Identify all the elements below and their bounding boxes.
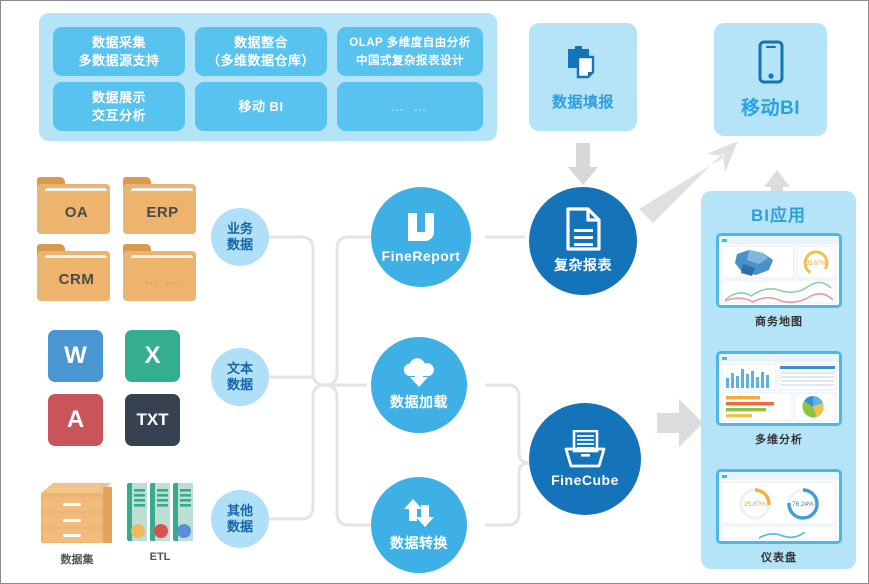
gauge-dashboard-thumb: 25.87% 76.24% bbox=[719, 480, 839, 541]
feature-card-data-integration[interactable]: 数据整合 （多维数据仓库） bbox=[195, 27, 327, 76]
bar-pie-dashboard-thumb bbox=[719, 362, 839, 423]
arrow-data-entry-to-report bbox=[568, 143, 598, 185]
bi-caption: 多维分析 bbox=[716, 431, 842, 447]
feature-panel: 数据采集 多数据源支持 数据整合 （多维数据仓库） OLAP 多维度自由分析 中… bbox=[39, 13, 497, 141]
data-entry-tile[interactable]: 数据填报 bbox=[529, 23, 637, 131]
category-text-data[interactable]: 文本 数据 bbox=[211, 348, 269, 406]
thumb-titlebar bbox=[719, 354, 839, 362]
category-line1: 业务 bbox=[227, 221, 253, 237]
feature-card-line2: 多数据源支持 bbox=[78, 52, 159, 70]
process-label: 数据加载 bbox=[390, 392, 448, 412]
folder-label: … … bbox=[145, 272, 181, 287]
feature-card-more[interactable]: … … bbox=[337, 82, 483, 131]
svg-text:25.87%: 25.87% bbox=[744, 501, 766, 508]
thumb-titlebar bbox=[719, 472, 839, 480]
source-etl-icon[interactable] bbox=[125, 479, 195, 550]
bi-item-multidim-analysis[interactable]: 多维分析 bbox=[716, 351, 842, 447]
process-complex-report[interactable]: 复杂报表 bbox=[529, 187, 637, 295]
binders-icon bbox=[125, 479, 195, 545]
map-dashboard-thumb: 35.67% bbox=[719, 244, 839, 305]
process-label: 数据转换 bbox=[390, 533, 448, 553]
feature-card-data-collection[interactable]: 数据采集 多数据源支持 bbox=[53, 27, 185, 76]
feature-card-line1: OLAP 多维度自由分析 bbox=[349, 34, 470, 52]
svg-text:76.24%: 76.24% bbox=[792, 501, 814, 508]
mobile-bi-label: 移动BI bbox=[741, 93, 800, 120]
bi-item-business-map[interactable]: 35.67% 商务地图 bbox=[716, 233, 842, 329]
feature-card-line2: 交互分析 bbox=[92, 107, 146, 125]
doc-label: A bbox=[67, 406, 84, 434]
clipboard-document-icon bbox=[562, 42, 604, 84]
arrow-finecube-to-bi bbox=[657, 399, 703, 447]
folder-label: OA bbox=[65, 204, 89, 221]
category-business-data[interactable]: 业务 数据 bbox=[211, 208, 269, 266]
process-label: 复杂报表 bbox=[554, 255, 612, 275]
folder-label: ERP bbox=[146, 204, 178, 221]
category-line1: 文本 bbox=[227, 361, 253, 377]
source-doc-acrobat[interactable]: A bbox=[48, 394, 103, 446]
process-finereport[interactable]: FineReport bbox=[371, 187, 471, 287]
folder-front: … … bbox=[129, 258, 196, 301]
process-data-transform[interactable]: 数据转换 bbox=[371, 477, 467, 573]
feature-card-mobile-bi[interactable]: 移动 BI bbox=[195, 82, 327, 131]
source-folder-oa[interactable]: OA bbox=[37, 177, 110, 234]
feature-card-line1: 移动 BI bbox=[238, 98, 283, 116]
category-line2: 数据 bbox=[227, 377, 253, 393]
category-line2: 数据 bbox=[227, 519, 253, 535]
architecture-diagram: 数据采集 多数据源支持 数据整合 （多维数据仓库） OLAP 多维度自由分析 中… bbox=[0, 0, 869, 584]
feature-card-line1: … … bbox=[391, 98, 430, 116]
source-dataset-icon[interactable] bbox=[37, 479, 117, 550]
bi-thumbnail: 35.67% bbox=[716, 233, 842, 308]
bi-thumbnail bbox=[716, 351, 842, 426]
process-finecube[interactable]: FineCube bbox=[529, 403, 641, 515]
process-label: FineReport bbox=[382, 248, 461, 264]
source-doc-word[interactable]: W bbox=[48, 330, 103, 382]
source-folder-crm[interactable]: CRM bbox=[37, 244, 110, 301]
dataset-label: 数据集 bbox=[37, 551, 117, 567]
process-label: FineCube bbox=[551, 472, 619, 488]
feature-card-line1: 数据展示 bbox=[92, 89, 146, 107]
feature-card-data-presentation[interactable]: 数据展示 交互分析 bbox=[53, 82, 185, 131]
feature-card-line2: 中国式复杂报表设计 bbox=[356, 52, 464, 70]
bi-application-panel: BI应用 35.67% 商务地图 bbox=[701, 191, 856, 569]
source-doc-excel[interactable]: X bbox=[125, 330, 180, 382]
data-entry-label: 数据填报 bbox=[552, 91, 614, 112]
svg-text:35.67%: 35.67% bbox=[806, 261, 827, 267]
mobile-bi-tile[interactable]: 移动BI bbox=[714, 23, 827, 136]
bi-caption: 商务地图 bbox=[716, 313, 842, 329]
bi-item-dashboard[interactable]: 25.87% 76.24% 仪表盘 bbox=[716, 469, 842, 565]
category-other-data[interactable]: 其他 数据 bbox=[211, 490, 269, 548]
swap-arrows-icon bbox=[401, 497, 437, 529]
document-lines-icon bbox=[564, 207, 602, 251]
finereport-logo-icon bbox=[404, 210, 438, 244]
folder-front: OA bbox=[43, 191, 110, 234]
source-folder-more[interactable]: … … bbox=[123, 244, 196, 301]
feature-card-line1: 数据整合 bbox=[234, 34, 288, 52]
doc-label: TXT bbox=[136, 410, 168, 430]
mobile-phone-icon bbox=[754, 40, 788, 86]
cloud-download-icon bbox=[400, 358, 438, 388]
cube-tray-icon bbox=[564, 430, 606, 468]
category-line1: 其他 bbox=[227, 503, 253, 519]
process-data-load[interactable]: 数据加载 bbox=[371, 337, 467, 433]
folder-label: CRM bbox=[59, 271, 95, 288]
feature-card-olap-analysis[interactable]: OLAP 多维度自由分析 中国式复杂报表设计 bbox=[337, 27, 483, 76]
feature-card-line2: （多维数据仓库） bbox=[207, 52, 315, 70]
folder-front: ERP bbox=[129, 191, 196, 234]
feature-card-line1: 数据采集 bbox=[92, 34, 146, 52]
bi-caption: 仪表盘 bbox=[716, 549, 842, 565]
thumb-titlebar bbox=[719, 236, 839, 244]
source-folder-erp[interactable]: ERP bbox=[123, 177, 196, 234]
category-line2: 数据 bbox=[227, 237, 253, 253]
file-cabinet-icon bbox=[37, 479, 117, 545]
bi-panel-title: BI应用 bbox=[701, 201, 856, 226]
etl-label: ETL bbox=[125, 551, 195, 563]
bi-thumbnail: 25.87% 76.24% bbox=[716, 469, 842, 544]
doc-label: X bbox=[144, 342, 160, 370]
doc-label: W bbox=[64, 342, 87, 370]
source-doc-txt[interactable]: TXT bbox=[125, 394, 180, 446]
folder-front: CRM bbox=[43, 258, 110, 301]
